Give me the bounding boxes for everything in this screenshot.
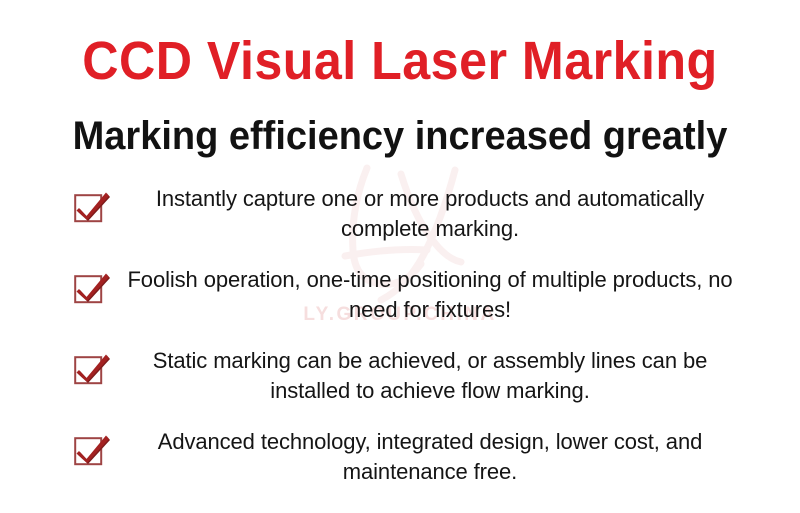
checked-checkbox-icon: [74, 352, 112, 386]
list-item: Foolish operation, one-time positioning …: [0, 261, 800, 342]
list-item-label: Instantly capture one or more products a…: [120, 184, 740, 244]
page-title: CCD Visual Laser Marking: [28, 32, 772, 90]
list-item-label: Advanced technology, integrated design, …: [120, 427, 740, 487]
checked-checkbox-icon: [74, 433, 112, 467]
checked-checkbox-icon: [74, 190, 112, 224]
list-item-label: Foolish operation, one-time positioning …: [120, 265, 740, 325]
list-item: Advanced technology, integrated design, …: [0, 423, 800, 504]
page-subtitle: Marking efficiency increased greatly: [20, 113, 780, 159]
checked-checkbox-icon: [74, 271, 112, 305]
list-item: Instantly capture one or more products a…: [0, 180, 800, 261]
feature-list: Instantly capture one or more products a…: [0, 180, 800, 504]
slide-canvas: LY.GROUP.CHINA CCD Visual Laser Marking …: [0, 0, 800, 513]
list-item-label: Static marking can be achieved, or assem…: [120, 346, 740, 406]
list-item: Static marking can be achieved, or assem…: [0, 342, 800, 423]
